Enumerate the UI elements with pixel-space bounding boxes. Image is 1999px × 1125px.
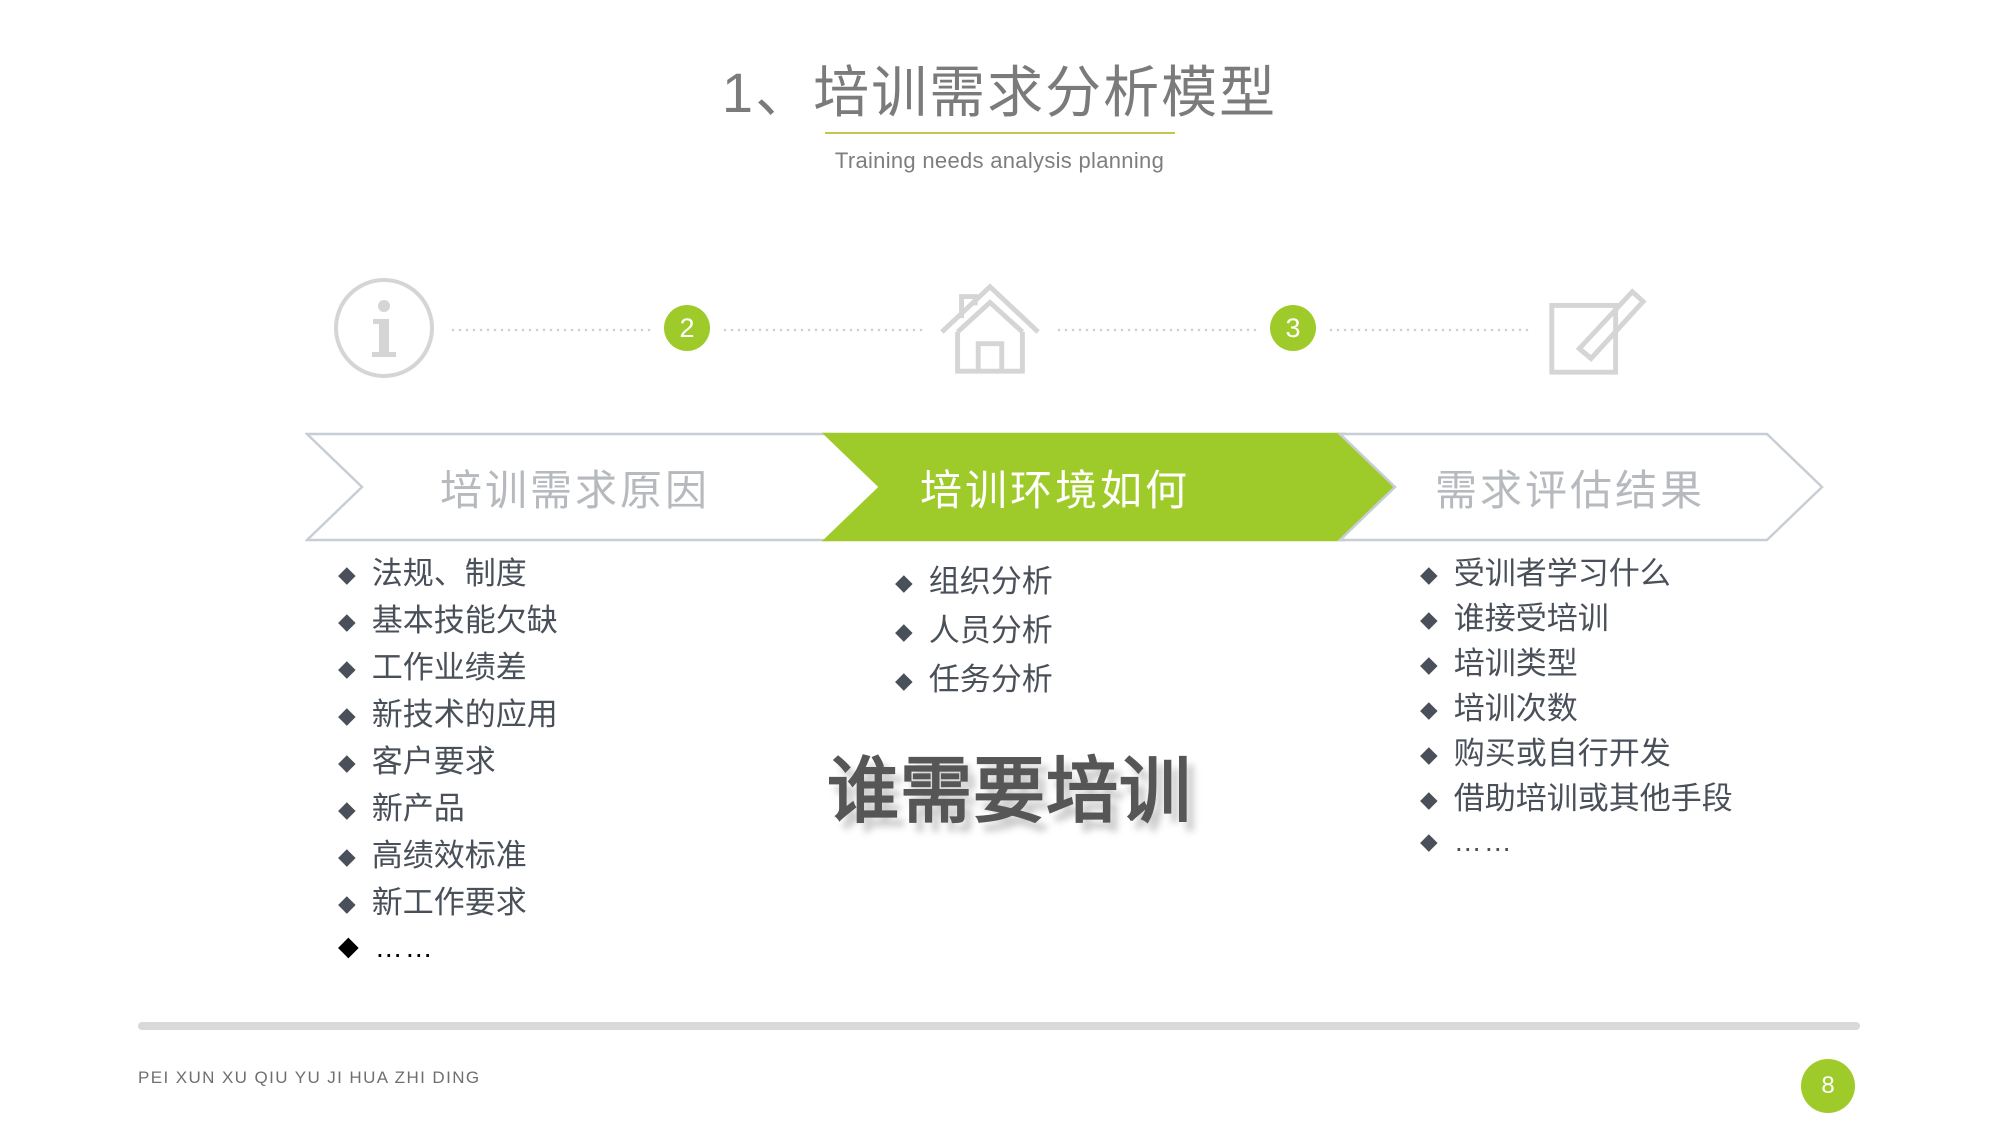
left-bullet-column: ◆ 法规、制度 ◆ 基本技能欠缺 ◆ 工作业绩差 ◆ 新技术的应用 ◆ 客户要求… xyxy=(338,558,738,978)
list-item-label: 谁接受培训 xyxy=(1454,603,1609,634)
list-item-label: 培训次数 xyxy=(1454,693,1578,724)
chevron-label-2[interactable]: 培训环境如何 xyxy=(825,432,1285,542)
step-badge-3: 3 xyxy=(1270,305,1316,351)
list-item-label: 客户要求 xyxy=(372,746,496,777)
emphasis-headline: 谁需要培训 xyxy=(827,732,1192,837)
diamond-bullet-icon: ◆ xyxy=(1420,788,1438,811)
diamond-bullet-icon: ◆ xyxy=(338,892,356,915)
chevron-label-1[interactable]: 培训需求原因 xyxy=(345,432,805,542)
right-bullet-column: ◆ 受训者学习什么 ◆ 谁接受培训 ◆ 培训类型 ◆ 培训次数 ◆ 购买或自行开… xyxy=(1420,558,1850,870)
footer-caption: PEI XUN XU QIU YU JI HUA ZHI DING xyxy=(138,1068,481,1088)
list-item: ◆ …… xyxy=(1420,828,1850,856)
info-icon xyxy=(330,274,438,382)
diamond-bullet-icon: ◆ xyxy=(1420,563,1438,586)
list-item: ◆ 培训类型 xyxy=(1420,648,1850,679)
list-item: ◆ 谁接受培训 xyxy=(1420,603,1850,634)
page-number-badge: 8 xyxy=(1801,1059,1855,1113)
list-item: ◆ 基本技能欠缺 xyxy=(338,605,738,636)
list-item-label: 法规、制度 xyxy=(372,558,527,589)
list-item: ◆ 购买或自行开发 xyxy=(1420,738,1850,769)
step-badge-2: 2 xyxy=(664,305,710,351)
list-item: ◆ 客户要求 xyxy=(338,746,738,777)
diamond-bullet-icon: ◆ xyxy=(338,751,356,774)
list-item-label: 基本技能欠缺 xyxy=(372,605,558,636)
list-item: ◆ 工作业绩差 xyxy=(338,652,738,683)
list-item-label: 受训者学习什么 xyxy=(1454,558,1671,589)
list-item-label: 新技术的应用 xyxy=(372,699,558,730)
list-item-label: …… xyxy=(375,934,435,962)
house-icon xyxy=(936,274,1044,382)
list-item: ◆ 新工作要求 xyxy=(338,887,738,918)
diamond-bullet-icon: ◆ xyxy=(1420,743,1438,766)
list-item-label: 人员分析 xyxy=(929,615,1053,646)
page-subtitle: Training needs analysis planning xyxy=(0,148,1999,174)
list-item-label: …… xyxy=(1454,828,1514,856)
diamond-bullet-icon: ◆ xyxy=(895,669,913,692)
list-item-label: 组织分析 xyxy=(929,566,1053,597)
list-item-label: 借助培训或其他手段 xyxy=(1454,783,1733,814)
page-title: 1、培训需求分析模型 xyxy=(0,62,1999,124)
list-item: ◆ 受训者学习什么 xyxy=(1420,558,1850,589)
title-underline-rule xyxy=(825,132,1175,134)
list-item-label: 新产品 xyxy=(372,793,465,824)
diamond-bullet-icon: ◆ xyxy=(1420,653,1438,676)
list-item: ◆ 借助培训或其他手段 xyxy=(1420,783,1850,814)
connector-dots-2 xyxy=(720,328,926,332)
slide-canvas: 1、培训需求分析模型 Training needs analysis plann… xyxy=(0,0,1999,1125)
list-item: ◆ 新技术的应用 xyxy=(338,699,738,730)
list-item-label: 购买或自行开发 xyxy=(1454,738,1671,769)
connector-dots-3 xyxy=(1054,328,1260,332)
list-item: ◆ 法规、制度 xyxy=(338,558,738,589)
diamond-bullet-icon: ◆ xyxy=(1420,830,1438,853)
list-item-label: 新工作要求 xyxy=(372,887,527,918)
list-item: ◆ 新产品 xyxy=(338,793,738,824)
list-item-label: 工作业绩差 xyxy=(372,652,527,683)
list-item: ◆ 组织分析 xyxy=(895,566,1255,597)
step-icon-row: 2 3 xyxy=(330,268,1650,388)
title-block: 1、培训需求分析模型 Training needs analysis plann… xyxy=(0,62,1999,174)
connector-dots-1 xyxy=(448,328,654,332)
diamond-bullet-icon: ◆ xyxy=(895,620,913,643)
list-item: ◆ …… xyxy=(338,934,738,962)
list-item: ◆ 人员分析 xyxy=(895,615,1255,646)
list-item-label: 任务分析 xyxy=(929,664,1053,695)
list-item: ◆ 培训次数 xyxy=(1420,693,1850,724)
diamond-bullet-icon: ◆ xyxy=(1420,608,1438,631)
diamond-bullet-icon: ◆ xyxy=(338,845,356,868)
chevron-process-bar: 培训需求原因 培训环境如何 需求评估结果 xyxy=(305,432,1825,542)
list-item: ◆ 高绩效标准 xyxy=(338,840,738,871)
footer-divider xyxy=(138,1022,1860,1030)
diamond-bullet-icon: ◆ xyxy=(338,704,356,727)
diamond-bullet-icon: ◆ xyxy=(338,563,356,586)
diamond-bullet-icon: ◆ xyxy=(895,571,913,594)
list-item: ◆ 任务分析 xyxy=(895,664,1255,695)
chevron-label-3[interactable]: 需求评估结果 xyxy=(1340,432,1800,542)
list-item-label: 高绩效标准 xyxy=(372,840,527,871)
edit-pencil-icon xyxy=(1542,274,1650,382)
diamond-bullet-icon: ◆ xyxy=(338,933,359,960)
connector-dots-4 xyxy=(1326,328,1532,332)
middle-bullet-column: ◆ 组织分析 ◆ 人员分析 ◆ 任务分析 xyxy=(895,566,1255,713)
diamond-bullet-icon: ◆ xyxy=(338,610,356,633)
diamond-bullet-icon: ◆ xyxy=(1420,698,1438,721)
list-item-label: 培训类型 xyxy=(1454,648,1578,679)
diamond-bullet-icon: ◆ xyxy=(338,657,356,680)
diamond-bullet-icon: ◆ xyxy=(338,798,356,821)
